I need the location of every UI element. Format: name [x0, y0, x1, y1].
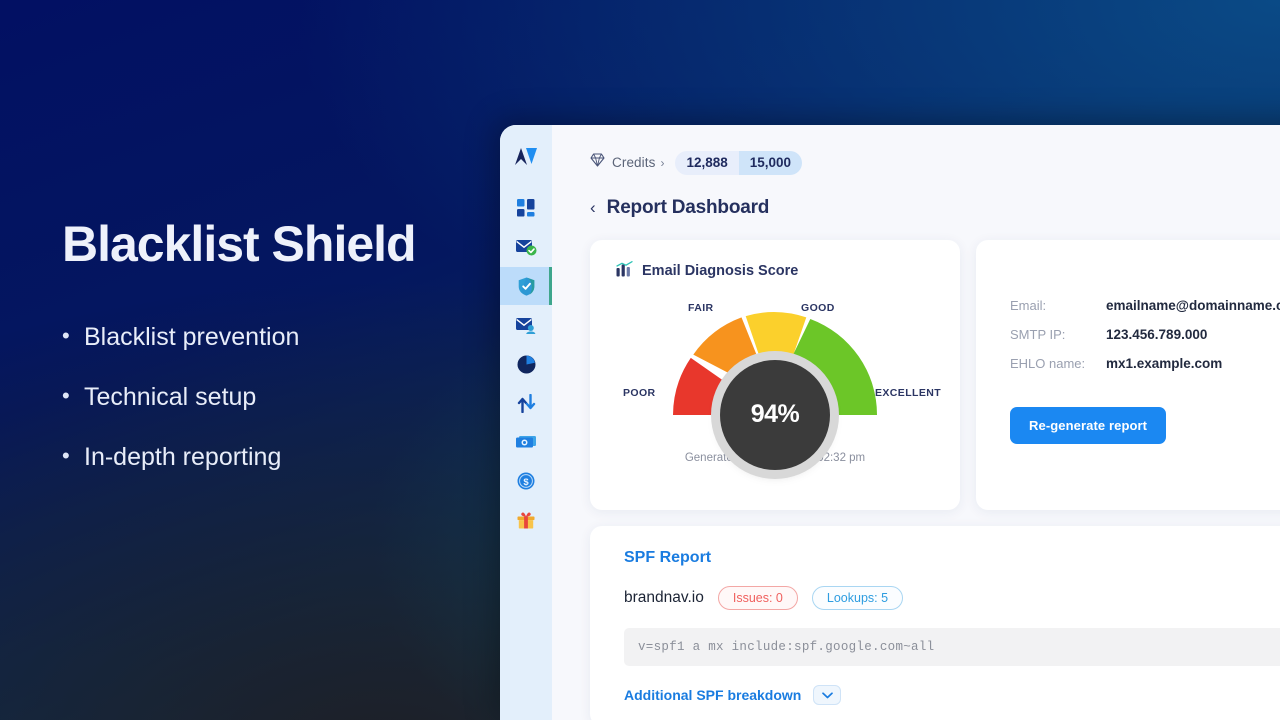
sidebar-item-credits[interactable]: $: [500, 462, 552, 500]
spf-report-card: SPF Report brandnav.io Issues: 0 Lookups…: [590, 526, 1280, 720]
page-title: Report Dashboard: [607, 197, 770, 219]
brandnav-logo-icon: [514, 147, 538, 166]
credits-pill[interactable]: 12,888 15,000: [675, 151, 802, 175]
money-card-icon: [516, 435, 537, 449]
spf-issues-badge: Issues: 0: [718, 586, 798, 611]
sidebar-item-billing[interactable]: [500, 423, 552, 461]
detail-key: EHLO name:: [1010, 356, 1106, 371]
detail-value-email: emailname@domainname.c: [1106, 298, 1280, 313]
sidebar-item-blacklist-shield[interactable]: [500, 267, 552, 305]
gauge-label-poor: POOR: [623, 387, 656, 399]
marketing-bullet-label: Technical setup: [84, 382, 256, 412]
spf-breakdown-toggle[interactable]: [813, 685, 841, 705]
bullet-dot-icon: •: [62, 322, 70, 350]
sidebar-item-logo[interactable]: [500, 139, 552, 173]
marketing-panel: Blacklist Shield • Blacklist prevention …: [0, 0, 500, 720]
sidebar-item-rewards[interactable]: [500, 501, 552, 539]
marketing-bullet-label: Blacklist prevention: [84, 322, 299, 352]
credits-label: Credits: [612, 155, 655, 170]
gauge-value: 94%: [751, 400, 800, 429]
back-chevron-icon[interactable]: ‹: [590, 199, 596, 216]
report-details-card: Email: emailname@domainname.c SMTP IP: 1…: [976, 240, 1280, 510]
detail-row-smtp-ip: SMTP IP: 123.456.789.000: [1010, 327, 1280, 342]
page-title-row: ‹ Report Dashboard: [590, 197, 1280, 219]
cards-row: Email Diagnosis Score: [590, 240, 1280, 510]
main-content: Credits › 12,888 15,000 ‹ Report Dashboa…: [552, 125, 1280, 720]
spf-record-value: v=spf1 a mx include:spf.google.com~all: [624, 628, 1280, 666]
gauge-hub: 94%: [720, 360, 830, 470]
credits-used-value: 12,888: [675, 151, 738, 175]
marketing-headline: Blacklist Shield: [62, 218, 460, 271]
spf-breakdown-row[interactable]: Additional SPF breakdown: [624, 685, 1280, 705]
spf-domain-row: brandnav.io Issues: 0 Lookups: 5: [624, 586, 1280, 611]
transfer-arrows-icon: [517, 394, 536, 413]
detail-row-ehlo-name: EHLO name: mx1.example.com: [1010, 356, 1280, 371]
gauge-label-excellent: EXCELLENT: [875, 387, 941, 399]
diagnosis-gauge: 94% POOR FAIR GOOD EXCELLENT: [665, 304, 885, 432]
dollar-coin-icon: $: [517, 472, 535, 490]
credits-bar: Credits › 12,888 15,000: [590, 151, 1280, 175]
detail-key: SMTP IP:: [1010, 327, 1106, 342]
spf-report-title: SPF Report: [624, 549, 1280, 567]
bullet-dot-icon: •: [62, 382, 70, 410]
shield-check-icon: [518, 277, 535, 296]
regenerate-report-button[interactable]: Re-generate report: [1010, 407, 1166, 444]
gauge-label-fair: FAIR: [688, 302, 714, 314]
sidebar: $: [500, 125, 552, 720]
chevron-down-icon: [822, 686, 833, 704]
score-card-header: Email Diagnosis Score: [616, 261, 798, 282]
email-diagnosis-score-card: Email Diagnosis Score: [590, 240, 960, 510]
sidebar-item-email-contacts[interactable]: [500, 306, 552, 344]
diamond-icon: [590, 153, 605, 172]
spf-lookups-badge: Lookups: 5: [812, 586, 903, 611]
marketing-bullet: • In-depth reporting: [62, 442, 460, 472]
sidebar-item-analytics[interactable]: [500, 345, 552, 383]
gauge-label-good: GOOD: [801, 302, 835, 314]
pie-chart-icon: [517, 355, 536, 374]
email-user-icon: [516, 317, 537, 334]
spf-domain: brandnav.io: [624, 589, 704, 607]
bar-chart-icon: [616, 261, 633, 282]
sidebar-item-email-verify[interactable]: [500, 228, 552, 266]
detail-value-smtp-ip: 123.456.789.000: [1106, 327, 1207, 342]
score-card-title: Email Diagnosis Score: [642, 263, 798, 279]
marketing-bullet-label: In-depth reporting: [84, 442, 281, 472]
gift-icon: [517, 511, 535, 529]
spf-breakdown-label[interactable]: Additional SPF breakdown: [624, 687, 801, 703]
detail-key: Email:: [1010, 298, 1106, 313]
credits-chevron-icon: ›: [660, 156, 664, 170]
marketing-bullet: • Blacklist prevention: [62, 322, 460, 352]
svg-text:$: $: [523, 477, 529, 488]
sidebar-item-transfer[interactable]: [500, 384, 552, 422]
dashboard-grid-icon: [517, 199, 535, 217]
app-window: $: [500, 125, 1280, 720]
sidebar-item-dashboard[interactable]: [500, 189, 552, 227]
detail-row-email: Email: emailname@domainname.c: [1010, 298, 1280, 313]
email-check-icon: [516, 239, 537, 256]
credits-total-value: 15,000: [739, 151, 802, 175]
marketing-bullet: • Technical setup: [62, 382, 460, 412]
detail-value-ehlo-name: mx1.example.com: [1106, 356, 1222, 371]
bullet-dot-icon: •: [62, 442, 70, 470]
